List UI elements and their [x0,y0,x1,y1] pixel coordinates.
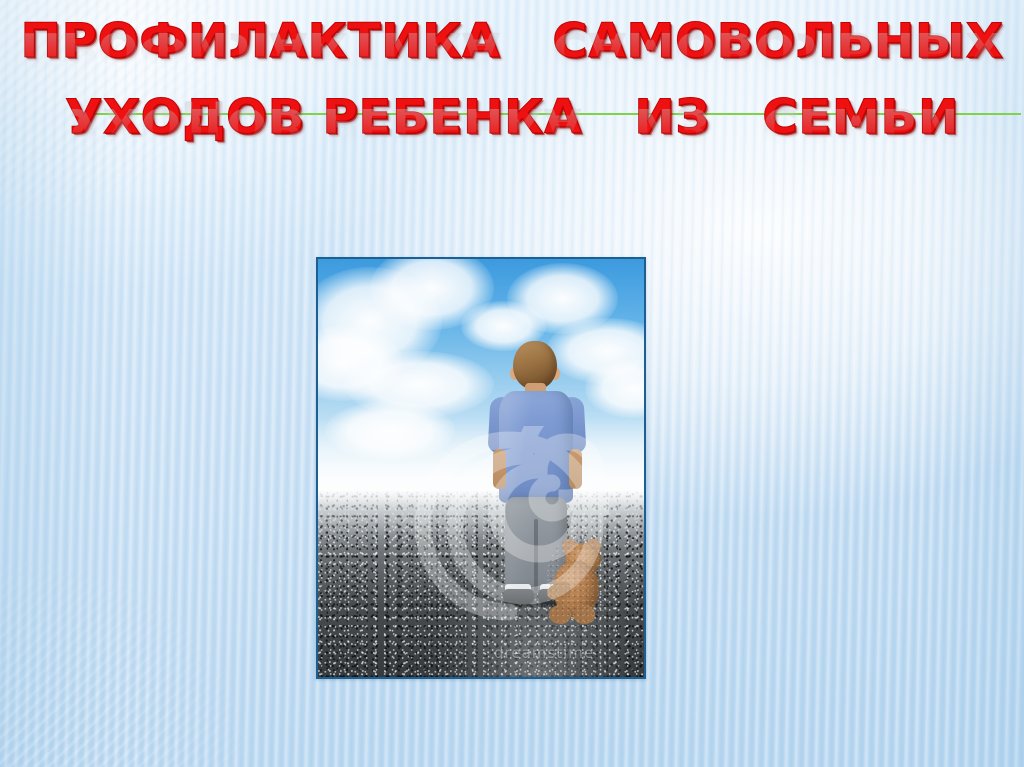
boy-shoe-left [503,589,534,604]
bear-leg-right [573,605,595,624]
slide-title-line-2: УХОДОВ РЕБЕНКА ИЗ СЕМЬИ [0,90,1024,146]
boy-head [513,341,557,389]
slide-title-block: ПРОФИЛАКТИКА САМОВОЛЬНЫХ ПРОФИЛАКТИКА СА… [0,14,1024,152]
title-line-2-container: УХОДОВ РЕБЕНКА ИЗ СЕМЬИ УХОДОВ РЕБЕНКА И… [0,90,1024,152]
slide-title-line-1: ПРОФИЛАКТИКА САМОВОЛЬНЫХ [0,14,1024,70]
content-photo: dreamstime [316,257,646,679]
title-line-1-container: ПРОФИЛАКТИКА САМОВОЛЬНЫХ ПРОФИЛАКТИКА СА… [0,14,1024,76]
background-diagonal-stripes-bottom-left [0,507,300,767]
boy-tshirt [499,391,573,503]
photo-figure-teddy-bear [547,539,609,631]
slide-canvas: ПРОФИЛАКТИКА САМОВОЛЬНЫХ ПРОФИЛАКТИКА СА… [0,0,1024,767]
bear-leg-left [549,605,571,624]
boy-arm-right [569,449,582,489]
photo-inner: dreamstime [318,259,644,677]
boy-leg-separation [534,519,538,591]
boy-arm-left [493,449,506,489]
